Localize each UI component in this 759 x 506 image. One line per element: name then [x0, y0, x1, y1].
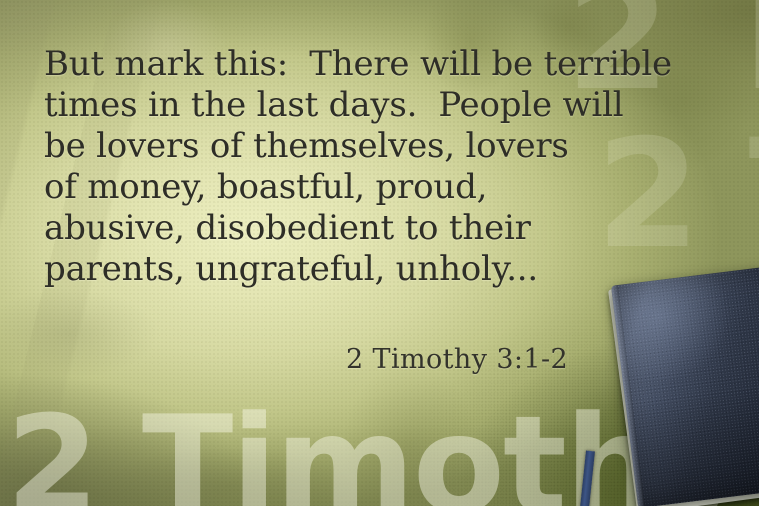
book-page-edges	[608, 266, 759, 506]
bible-book	[540, 255, 759, 506]
book-cover-sheen	[611, 264, 759, 506]
verse-line: But mark this: There will be terrible	[44, 44, 704, 85]
verse-line: times in the last days. People will	[44, 85, 704, 126]
scripture-image-canvas: 2 Timothy 2 Timothy 2 Timothy But mark t…	[0, 0, 759, 506]
verse-line: of money, boastful, proud,	[44, 167, 704, 208]
book-cover	[611, 264, 759, 506]
verse-line: abusive, disobedient to their	[44, 208, 704, 249]
scripture-citation: 2 Timothy 3:1-2	[346, 344, 568, 375]
verse-text-block: But mark this: There will be terrible ti…	[44, 44, 704, 290]
verse-line: parents, ungrateful, unholy...	[44, 249, 704, 290]
verse-line: be lovers of themselves, lovers	[44, 126, 704, 167]
book-shadow	[604, 266, 759, 506]
book-leather-grain	[611, 264, 759, 506]
watermark-bottom-left: 2 Timothy	[6, 398, 744, 506]
book-spine-edge	[611, 285, 645, 506]
book-ribbon-bookmark	[578, 451, 595, 506]
